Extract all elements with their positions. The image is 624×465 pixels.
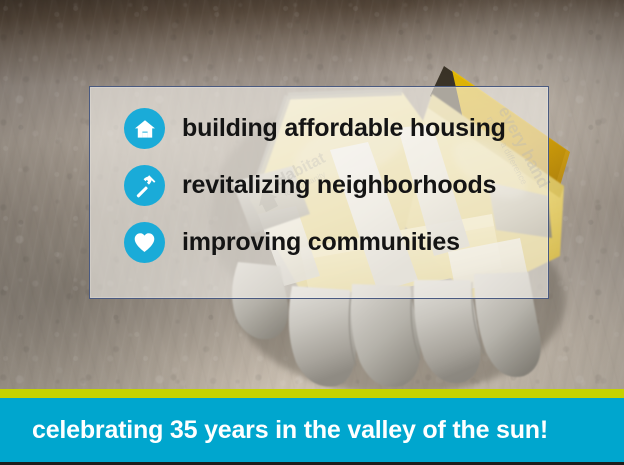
- bullet-label: revitalizing neighborhoods: [182, 173, 496, 198]
- bottom-banner: celebrating 35 years in the valley of th…: [0, 398, 624, 462]
- poster-image: Habitat for Humanity every hand makes a …: [0, 0, 624, 465]
- message-panel: building affordable housing revitalizing…: [89, 86, 549, 299]
- bullet-item-building-affordable-housing: building affordable housing: [124, 108, 506, 149]
- bullet-item-improving-communities: improving communities: [124, 222, 460, 263]
- bullet-list: building affordable housing revitalizing…: [90, 87, 548, 298]
- bullet-item-revitalizing-neighborhoods: revitalizing neighborhoods: [124, 165, 496, 206]
- bullet-label: building affordable housing: [182, 116, 506, 141]
- bullet-label: improving communities: [182, 230, 460, 255]
- accent-stripe: [0, 389, 624, 398]
- banner-headline: celebrating 35 years in the valley of th…: [32, 416, 548, 445]
- heart-icon: [124, 222, 165, 263]
- house-icon: [124, 108, 165, 149]
- hammer-icon: [124, 165, 165, 206]
